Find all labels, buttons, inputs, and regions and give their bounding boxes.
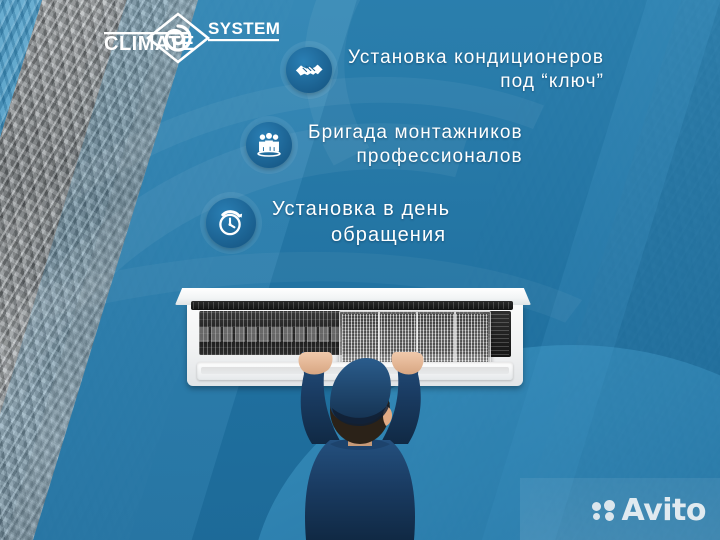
technician-photo — [252, 352, 468, 540]
feature-item-same-day-install: Установка в день обращения — [206, 197, 720, 248]
team-people-icon — [246, 122, 292, 168]
feature-text: Установка кондиционеров под “ключ” — [348, 46, 604, 95]
feature-line-2: обращения — [272, 223, 450, 249]
feature-line-2: под “ключ” — [348, 70, 604, 94]
technician-right-hand — [392, 352, 424, 375]
feature-line-1: Установка в день — [272, 197, 450, 223]
avito-watermark: Avito — [592, 496, 706, 526]
feature-line-1: Установка кондиционеров — [348, 46, 604, 70]
handshake-icon — [286, 47, 332, 93]
avito-dots-icon — [592, 500, 616, 522]
feature-item-turnkey-installation: Установка кондиционеров под “ключ” — [286, 46, 720, 95]
avito-wordmark: Avito — [622, 496, 706, 526]
feature-list: Установка кондиционеров под “ключ” Брига… — [0, 46, 720, 248]
feature-item-professional-crew: Бригада монтажников профессионалов — [246, 121, 720, 170]
technician-left-hand — [299, 352, 333, 375]
feature-text: Установка в день обращения — [272, 197, 450, 248]
clock-fast-icon — [206, 198, 256, 248]
feature-line-2: профессионалов — [308, 145, 523, 169]
logo-word-systems: SYSTEMS — [208, 19, 279, 38]
technician-torso — [305, 440, 415, 540]
advertisement-banner: CLIMATE SYSTEMS CLIMATE SYSTEMS Установк… — [0, 0, 720, 540]
feature-line-1: Бригада монтажников — [308, 121, 523, 145]
feature-text: Бригада монтажников профессионалов — [308, 121, 523, 170]
ac-panel-vent — [191, 301, 513, 310]
